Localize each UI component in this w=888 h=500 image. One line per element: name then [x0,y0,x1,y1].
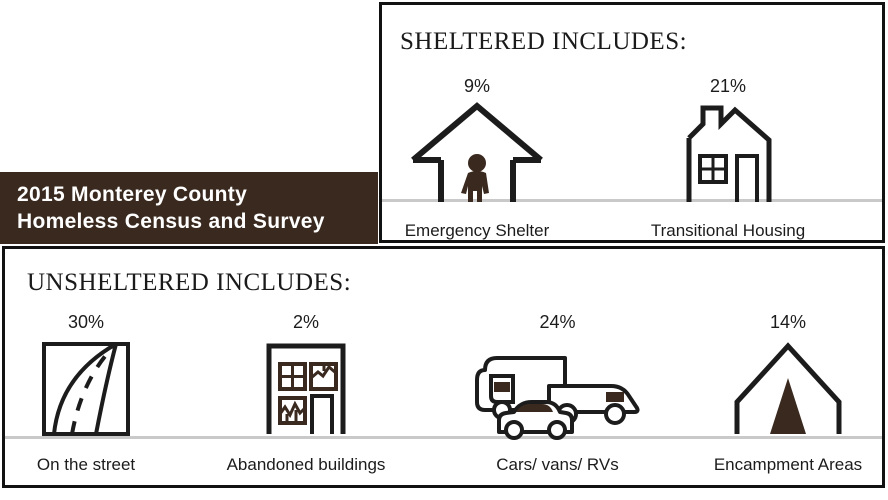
stat-label: Encampment Areas [700,454,876,476]
sheltered-heading: SHELTERED INCLUDES: [400,28,687,56]
stat-percent: 2% [215,312,397,332]
stat-label: Cars/ vans/ RVs [465,454,650,476]
stat-label: Abandoned buildings [215,454,397,476]
stat-on-the-street: 30% On the street [10,312,162,476]
unsheltered-heading: UNSHELTERED INCLUDES: [27,269,351,297]
tent-icon [700,332,876,436]
stat-label: Transitional Housing [633,220,823,242]
abandoned-building-icon [215,332,397,436]
road-icon [10,332,162,436]
house-with-chimney-icon [633,96,823,204]
house-with-person-icon [387,96,567,204]
stat-percent: 21% [633,76,823,96]
stat-abandoned-buildings: 2% Abandoned buildings [215,312,397,476]
stat-transitional-housing: 21% Transitional Housing [633,76,823,242]
stat-percent: 30% [10,312,162,332]
stat-label: On the street [10,454,162,476]
stat-percent: 14% [700,312,876,332]
stat-percent: 24% [465,312,650,332]
vehicles-icon [465,332,650,436]
stat-encampment-areas: 14% Encampment Areas [700,312,876,476]
stat-label: Emergency Shelter [387,220,567,242]
title-line-2: Homeless Census and Survey [17,208,378,235]
stat-emergency-shelter: 9% Emergency Shelter [387,76,567,242]
title-banner: 2015 Monterey County Homeless Census and… [0,172,378,244]
infographic-root: SHELTERED INCLUDES: 9% Emergency Shelter [0,0,888,500]
stat-percent: 9% [387,76,567,96]
stat-cars-vans-rvs: 24% Cars/ vans/ RVs [465,312,650,476]
title-line-1: 2015 Monterey County [17,181,378,208]
